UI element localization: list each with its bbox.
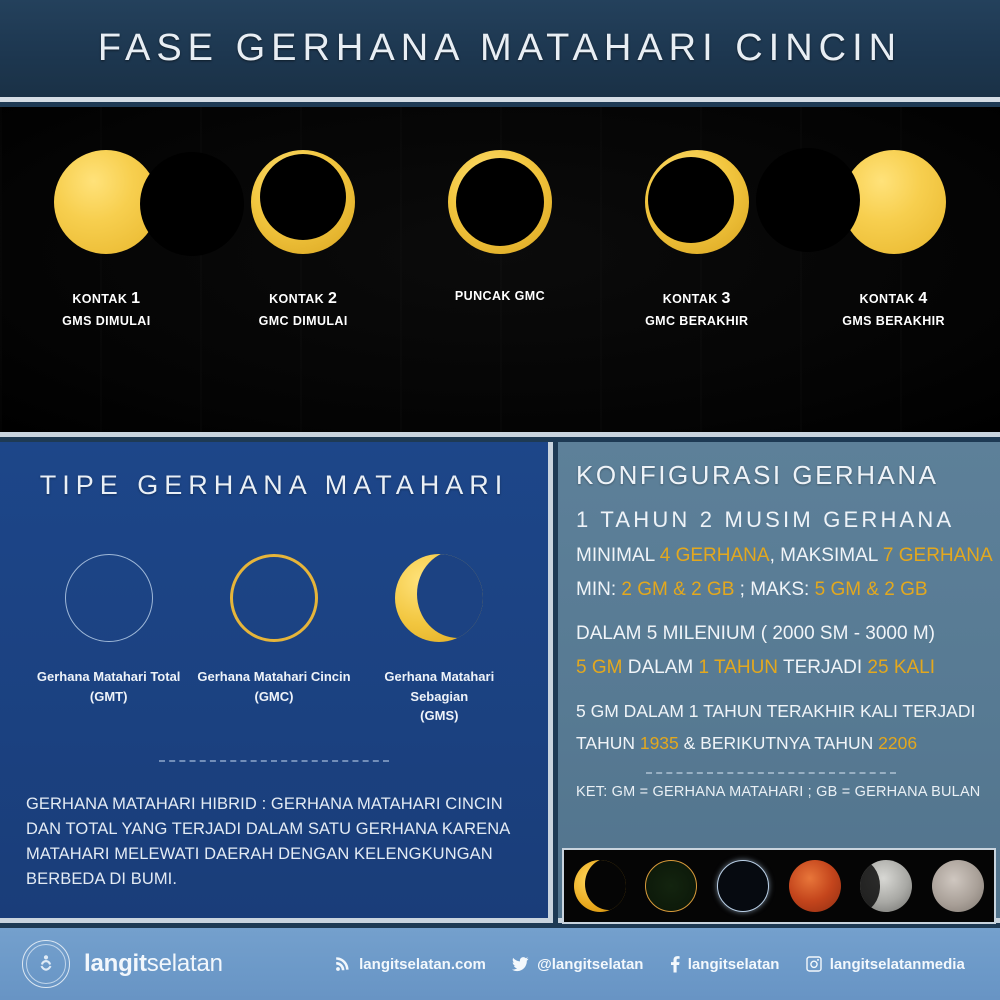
phase-kontak-label: KONTAK <box>663 292 718 306</box>
phase-item: KONTAK 1 GMS DIMULAI <box>11 107 201 331</box>
title-bar: FASE GERHANA MATAHARI CINCIN <box>0 0 1000 102</box>
phase-item: PUNCAK GMC <box>405 107 595 306</box>
config-line-minmax-types: MIN: 2 GM & 2 GB ; MAKS: 5 GM & 2 GB <box>576 577 984 604</box>
blood-moon-photo <box>789 860 841 912</box>
full-moon-photo <box>932 860 984 912</box>
type-label: Gerhana Matahari Cincin (GMC) <box>191 667 356 706</box>
social-label: langitselatan.com <box>359 956 486 973</box>
config-divider <box>646 772 896 774</box>
cfg-highlight: 2 GM & 2 GB <box>621 579 734 600</box>
rss-icon <box>335 956 351 972</box>
instagram-icon <box>806 956 822 972</box>
phase-caption: KONTAK 2 GMC DIMULAI <box>208 287 398 331</box>
phase-desc: GMC BERAKHIR <box>645 314 748 328</box>
phase-number: 3 <box>722 290 731 307</box>
phase-kontak-label: KONTAK <box>860 292 915 306</box>
total-eclipse-icon <box>65 554 153 642</box>
brand-bold: langit <box>84 950 147 977</box>
type-label: Gerhana Matahari Total (GMT) <box>26 667 191 706</box>
types-row: Gerhana Matahari Total (GMT) Gerhana Mat… <box>26 543 522 726</box>
partial-lunar-photo <box>860 860 912 912</box>
cfg-text: TERJADI <box>778 657 867 678</box>
type-abbr: (GMS) <box>420 708 458 723</box>
type-name: Gerhana Matahari Total <box>37 669 181 684</box>
phase-art-peak <box>405 107 595 287</box>
annular-ring-icon <box>448 150 552 254</box>
phase-caption: PUNCAK GMC <box>405 287 595 306</box>
annular-eclipse-icon <box>230 554 318 642</box>
config-line-minmax-eclipses: MINIMAL 4 GERHANA, MAKSIMAL 7 GERHANA <box>576 543 984 570</box>
social-label: langitselatanmedia <box>830 956 965 973</box>
cfg-highlight: 4 GERHANA <box>660 545 770 566</box>
cfg-highlight: 5 GM & 2 GB <box>815 579 928 600</box>
phase-kontak-label: KONTAK <box>72 292 127 306</box>
type-abbr: (GMT) <box>90 689 128 704</box>
config-line-seasons: 1 TAHUN 2 MUSIM GERHANA <box>576 507 984 533</box>
phase-caption: KONTAK 4 GMS BERAKHIR <box>799 287 989 331</box>
types-heading: TIPE GERHANA MATAHARI <box>26 470 522 501</box>
config-line-years: TAHUN 1935 & BERIKUTNYA TAHUN 2206 <box>576 731 984 756</box>
phase-art-contact-4 <box>799 107 989 287</box>
config-line-last-occurrence: 5 GM DALAM 1 TAHUN TERAKHIR KALI TERJADI <box>576 699 984 724</box>
brand-block: langitselatan <box>22 940 322 988</box>
type-name: Gerhana Matahari Sebagian <box>384 669 494 704</box>
twitter-icon <box>512 956 529 972</box>
phase-caption: KONTAK 3 GMC BERAKHIR <box>602 287 792 331</box>
social-label: langitselatan <box>688 956 780 973</box>
cfg-highlight: 1935 <box>640 733 679 753</box>
type-name: Gerhana Matahari Cincin <box>197 669 350 684</box>
phase-item: KONTAK 4 GMS BERAKHIR <box>799 107 989 331</box>
phase-desc: GMS BERAKHIR <box>842 314 945 328</box>
social-twitter[interactable]: @langitselatan <box>512 956 643 973</box>
social-instagram[interactable]: langitselatanmedia <box>806 956 965 973</box>
sun-partial-icon <box>54 150 158 254</box>
partial-eclipse-icon <box>395 554 483 642</box>
cfg-highlight: 1 TAHUN <box>698 657 778 678</box>
phase-number: 2 <box>328 290 337 307</box>
annular-crescent-photo <box>574 860 626 912</box>
type-item-total: Gerhana Matahari Total (GMT) <box>26 543 191 726</box>
langitselatan-seal-icon <box>22 940 70 988</box>
eclipse-phases-section: KONTAK 1 GMS DIMULAI KONTAK 2 GMC DIMULA… <box>0 107 1000 437</box>
phase-desc: GMC DIMULAI <box>259 314 348 328</box>
phase-art-contact-2 <box>208 107 398 287</box>
phase-item: KONTAK 2 GMC DIMULAI <box>208 107 398 331</box>
cfg-text: , MAKSIMAL <box>770 545 883 566</box>
phase-desc: GMS DIMULAI <box>62 314 150 328</box>
config-line-5gm-frequency: 5 GM DALAM 1 TAHUN TERJADI 25 KALI <box>576 655 984 682</box>
config-legend: KET: GM = GERHANA MATAHARI ; GB = GERHAN… <box>576 784 984 800</box>
cfg-text: TAHUN <box>576 733 640 753</box>
eclipse-types-panel: TIPE GERHANA MATAHARI Gerhana Matahari T… <box>0 442 553 923</box>
brand-wordmark: langitselatan <box>84 950 223 978</box>
type-abbr: (GMC) <box>254 689 293 704</box>
phase-number: 1 <box>131 290 140 307</box>
social-label: @langitselatan <box>537 956 643 973</box>
cfg-highlight: 25 KALI <box>867 657 935 678</box>
cfg-highlight: 5 GM <box>576 657 622 678</box>
type-item-partial: Gerhana Matahari Sebagian (GMS) <box>357 543 522 726</box>
footer-bar: langitselatan langitselatan.com @langits… <box>0 928 1000 1000</box>
phase-caption: KONTAK 1 GMS DIMULAI <box>11 287 201 331</box>
phase-desc: PUNCAK GMC <box>455 289 545 303</box>
phase-art-contact-1 <box>11 107 201 287</box>
sun-partial-icon <box>842 150 946 254</box>
config-heading: KONFIGURASI GERHANA <box>576 460 984 491</box>
type-item-annular: Gerhana Matahari Cincin (GMC) <box>191 543 356 726</box>
cfg-text: & BERIKUTNYA TAHUN <box>679 733 878 753</box>
annular-ring-icon <box>645 150 749 254</box>
brand-light: selatan <box>147 950 223 977</box>
config-line-millennium: DALAM 5 MILENIUM ( 2000 SM - 3000 M) <box>576 621 984 648</box>
phase-kontak-label: KONTAK <box>269 292 324 306</box>
cfg-highlight: 2206 <box>878 733 917 753</box>
facebook-icon <box>670 956 680 973</box>
cfg-text: MINIMAL <box>576 545 660 566</box>
annular-ring-icon <box>251 150 355 254</box>
eclipse-photo-strip <box>562 848 996 924</box>
cfg-text: ; MAKS: <box>734 579 814 600</box>
cfg-text: DALAM <box>622 657 698 678</box>
total-solar-corona-photo <box>717 860 769 912</box>
hybrid-eclipse-note: GERHANA MATAHARI HIBRID : GERHANA MATAHA… <box>26 792 522 892</box>
cfg-highlight: 7 GERHANA <box>883 545 993 566</box>
type-label: Gerhana Matahari Sebagian (GMS) <box>357 667 522 726</box>
annular-ring-photo <box>645 860 697 912</box>
cfg-text: MIN: <box>576 579 621 600</box>
page-title: FASE GERHANA MATAHARI CINCIN <box>98 27 902 70</box>
phase-number: 4 <box>918 290 927 307</box>
social-website[interactable]: langitselatan.com <box>335 956 486 973</box>
infographic-page: FASE GERHANA MATAHARI CINCIN KONTAK 1 GM… <box>0 0 1000 1000</box>
social-facebook[interactable]: langitselatan <box>670 956 780 973</box>
types-divider <box>159 760 389 762</box>
